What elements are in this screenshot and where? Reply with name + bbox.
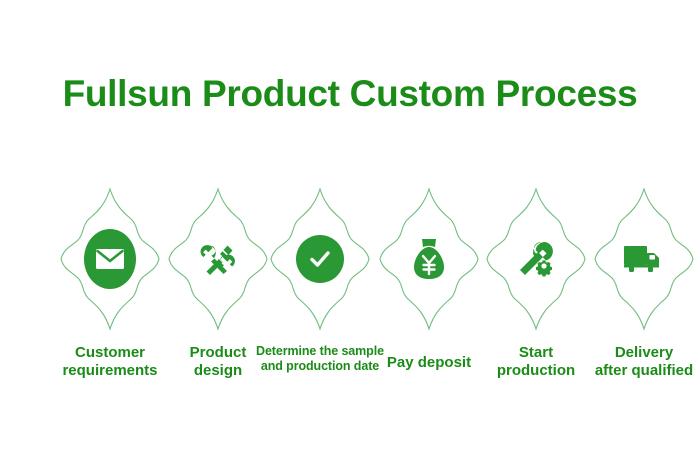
process-step-customer-requirements[interactable]: Customer requirements (52, 186, 168, 406)
step-icon-slot (183, 224, 253, 294)
page-title: Fullsun Product Custom Process (0, 72, 700, 116)
step-label: Delivery after qualified (578, 344, 700, 381)
process-steps-row: Customer requirements (0, 186, 700, 406)
step-icon-slot (285, 224, 355, 294)
step-label-line2: after qualified (578, 362, 700, 380)
process-step-start-production[interactable]: Start production (478, 186, 594, 406)
wrench-gear-icon (514, 238, 558, 280)
money-bag-yen-icon (411, 237, 447, 281)
check-circle-icon (307, 246, 333, 272)
process-step-determine-sample-and-production-date[interactable]: Determine the sample and production date (262, 186, 378, 406)
step-icon-slot (609, 224, 679, 294)
step-icon-slot (501, 224, 571, 294)
process-infographic: Fullsun Product Custom Process Customer … (0, 0, 700, 455)
tools-crossed-icon (197, 238, 239, 280)
step-label-line1: Delivery (578, 344, 700, 362)
process-step-delivery-after-qualified[interactable]: Delivery after qualified (586, 186, 700, 406)
step-icon-slot (394, 224, 464, 294)
envelope-icon (95, 247, 125, 271)
delivery-truck-icon (623, 243, 665, 275)
step-icon-slot (75, 224, 145, 294)
